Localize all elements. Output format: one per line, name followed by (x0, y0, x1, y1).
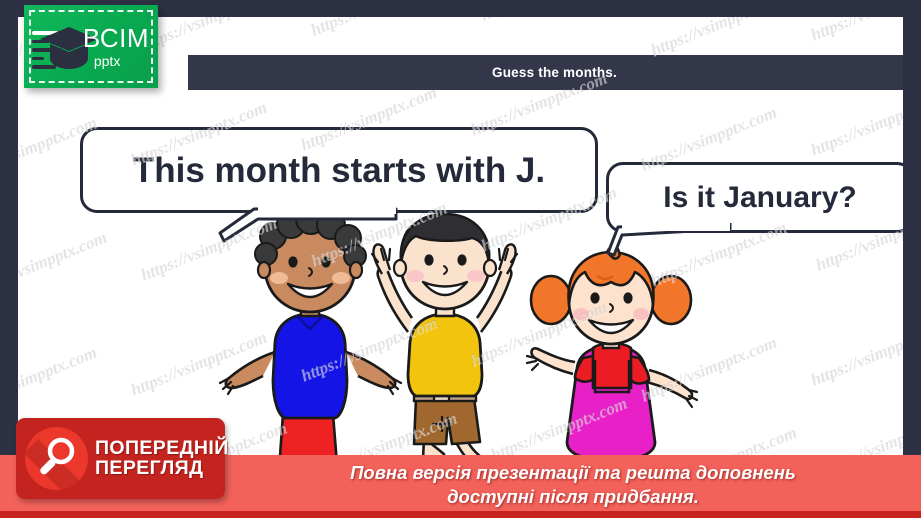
watermark-text: https://vsimpptx.com (808, 318, 903, 391)
watermark-text: https://vsimpptx.com (18, 228, 110, 301)
preview-badge-icon-circle (25, 427, 88, 490)
preview-badge-line-2: ПЕРЕГЛЯД (95, 459, 229, 479)
speech-bubble-answer-text: Is it January? (663, 183, 856, 213)
watermark-text: https://vsimpptx.com (138, 17, 280, 56)
preview-badge-label: ПОПЕРЕДНІЙ ПЕРЕГЛЯД (95, 439, 229, 479)
watermark-text: https://vsimpptx.com (808, 88, 903, 161)
preview-badge[interactable]: ПОПЕРЕДНІЙ ПЕРЕГЛЯД (16, 418, 225, 499)
preview-badge-line-1: ПОПЕРЕДНІЙ (95, 439, 229, 459)
purchase-notice-text: Повна версія презентації та решта доповн… (235, 461, 911, 508)
slide-preview-window: Guess the months. This month starts with… (0, 0, 921, 518)
speech-bubble-answer-tail (604, 223, 734, 259)
page-title: Guess the months. (492, 65, 617, 80)
watermark-text: https://vsimpptx.com (648, 17, 790, 61)
vsimpptx-logo[interactable]: ВСІМ pptx (24, 5, 158, 88)
watermark-text: https://vsimpptx.com (808, 17, 903, 46)
speech-bubble-question-tail (218, 203, 398, 245)
logo-brand-text: ВСІМ (83, 25, 149, 51)
logo-wordmark: ВСІМ pptx (83, 25, 149, 68)
logo-sub-text: pptx (94, 54, 149, 68)
watermark-text: https://vsimpptx.com (308, 17, 450, 41)
speech-bubble-question-text: This month starts with J. (133, 153, 545, 188)
purchase-notice-line-1: Повна версія презентації та решта доповн… (235, 461, 911, 485)
slide-title-band: Guess the months. (188, 55, 903, 90)
watermark-text: https://vsimpptx.com (478, 17, 620, 26)
purchase-notice-line-2: доступні після придбання. (235, 485, 911, 509)
banner-bottom-strip (0, 511, 921, 518)
watermark-text: https://vsimpptx.com (18, 343, 100, 416)
speech-bubble-question: This month starts with J. (80, 127, 598, 213)
magnifier-icon (36, 437, 78, 479)
